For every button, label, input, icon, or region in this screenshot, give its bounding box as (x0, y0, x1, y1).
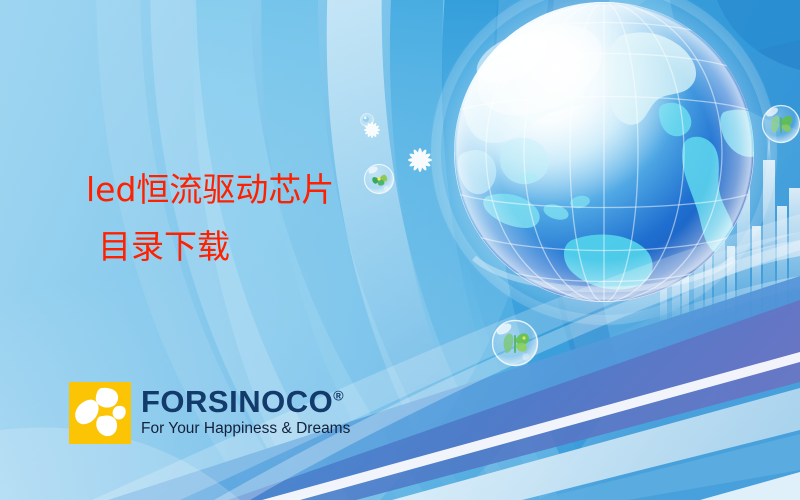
logo-text-block: FORSINOCO® For Your Happiness & Dreams (141, 382, 350, 438)
headline-line-2: 目录下载 (86, 219, 334, 276)
logo-wordmark-text: FORSINOCO (141, 384, 333, 419)
four-petal-pinwheel-icon (69, 382, 131, 444)
registered-trademark-icon: ® (333, 388, 344, 404)
banner-headline: led恒流驱动芯片 目录下载 (86, 162, 334, 276)
bubble-plant-icon (763, 106, 800, 143)
banner-canvas: led恒流驱动芯片 目录下载 FORSINOCO® For Your Happi… (0, 0, 800, 500)
company-logo[interactable]: FORSINOCO® For Your Happiness & Dreams (69, 382, 350, 444)
headline-line-1: led恒流驱动芯片 (86, 162, 334, 219)
logo-tagline: For Your Happiness & Dreams (141, 419, 350, 438)
bubble-pinwheel-icon (365, 165, 394, 194)
logo-wordmark: FORSINOCO® (141, 386, 350, 417)
bubble-leaf-icon (493, 321, 538, 366)
bubble-globe-icon (361, 114, 374, 127)
